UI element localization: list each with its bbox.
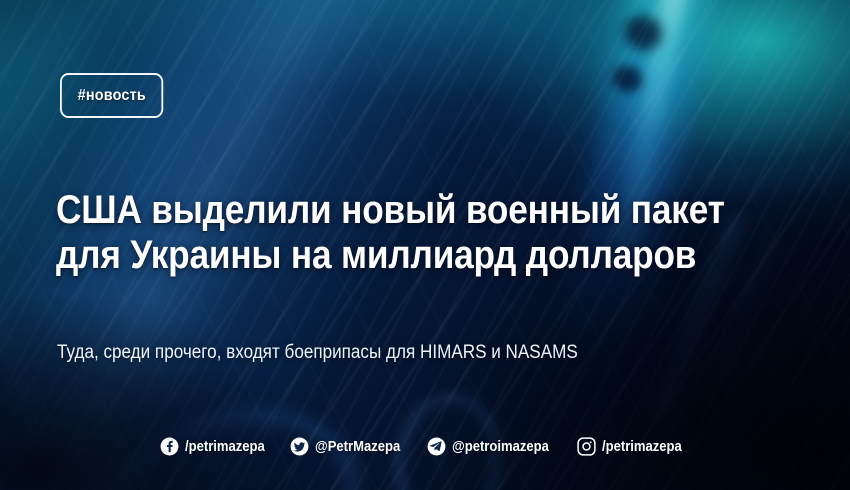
twitter-handle: @PetrMazepa <box>315 439 400 455</box>
social-link-facebook[interactable]: /petrimazepa <box>160 437 274 456</box>
news-card: #новость США выделили новый военный паке… <box>0 0 850 490</box>
social-link-twitter[interactable]: @PetrMazepa <box>290 437 410 456</box>
page-title: США выделили новый военный пакет для Укр… <box>56 188 637 278</box>
facebook-icon <box>160 437 179 456</box>
instagram-icon <box>577 437 596 456</box>
card-content: #новость США выделили новый военный паке… <box>0 0 850 490</box>
twitter-icon <box>290 437 309 456</box>
facebook-handle: /petrimazepa <box>185 439 265 455</box>
telegram-icon <box>427 437 446 456</box>
headline-line-1: США выделили новый военный пакет <box>56 188 637 233</box>
headline-line-2: для Украины на миллиард долларов <box>56 233 637 278</box>
hashtag-badge[interactable]: #новость <box>60 73 164 118</box>
subtitle: Туда, среди прочего, входят боеприпасы д… <box>57 341 578 365</box>
telegram-handle: @petroimazepa <box>452 439 549 455</box>
instagram-handle: /petrimazepa <box>602 439 682 455</box>
social-link-telegram[interactable]: @petroimazepa <box>427 437 560 456</box>
social-links-bar: /petrimazepa @PetrMazepa <box>0 437 850 456</box>
social-link-instagram[interactable]: /petrimazepa <box>577 437 691 456</box>
